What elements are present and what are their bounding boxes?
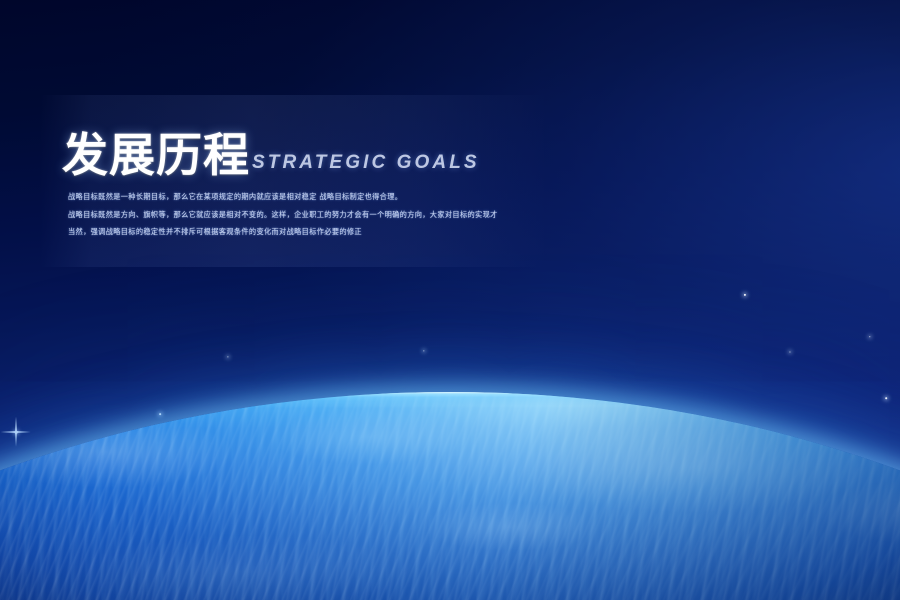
- star-right-mid-icon: [869, 336, 870, 337]
- star-upper-right-icon: [789, 351, 790, 352]
- page-title: 发展历程: [62, 132, 250, 178]
- body-line: 战略目标既然是一种长期目标，那么它在某项规定的期内就应该是相对稳定 战略目标制定…: [68, 188, 538, 206]
- body-line: 战略目标既然是方向、旗帜等，那么它就应该是相对不变的。这样，企业职工的努力才会有…: [68, 206, 538, 224]
- body-copy: 战略目标既然是一种长期目标，那么它在某项规定的期内就应该是相对稳定 战略目标制定…: [68, 188, 538, 241]
- star-center-icon: [423, 350, 424, 351]
- page-subtitle: STRATEGIC GOALS: [252, 152, 480, 178]
- earth-globe: [0, 392, 900, 600]
- headline: 发展历程 STRATEGIC GOALS: [62, 112, 532, 178]
- earth-atmosphere-rim: [0, 392, 900, 600]
- star-right-high-icon: [744, 294, 746, 296]
- star-mid-left-icon: [227, 356, 228, 357]
- strategic-goals-banner: 发展历程 STRATEGIC GOALS 战略目标既然是一种长期目标，那么它在某…: [0, 0, 900, 600]
- body-line: 当然，强调战略目标的稳定性并不排斥可根据客观条件的变化而对战略目标作必要的修正: [68, 223, 538, 241]
